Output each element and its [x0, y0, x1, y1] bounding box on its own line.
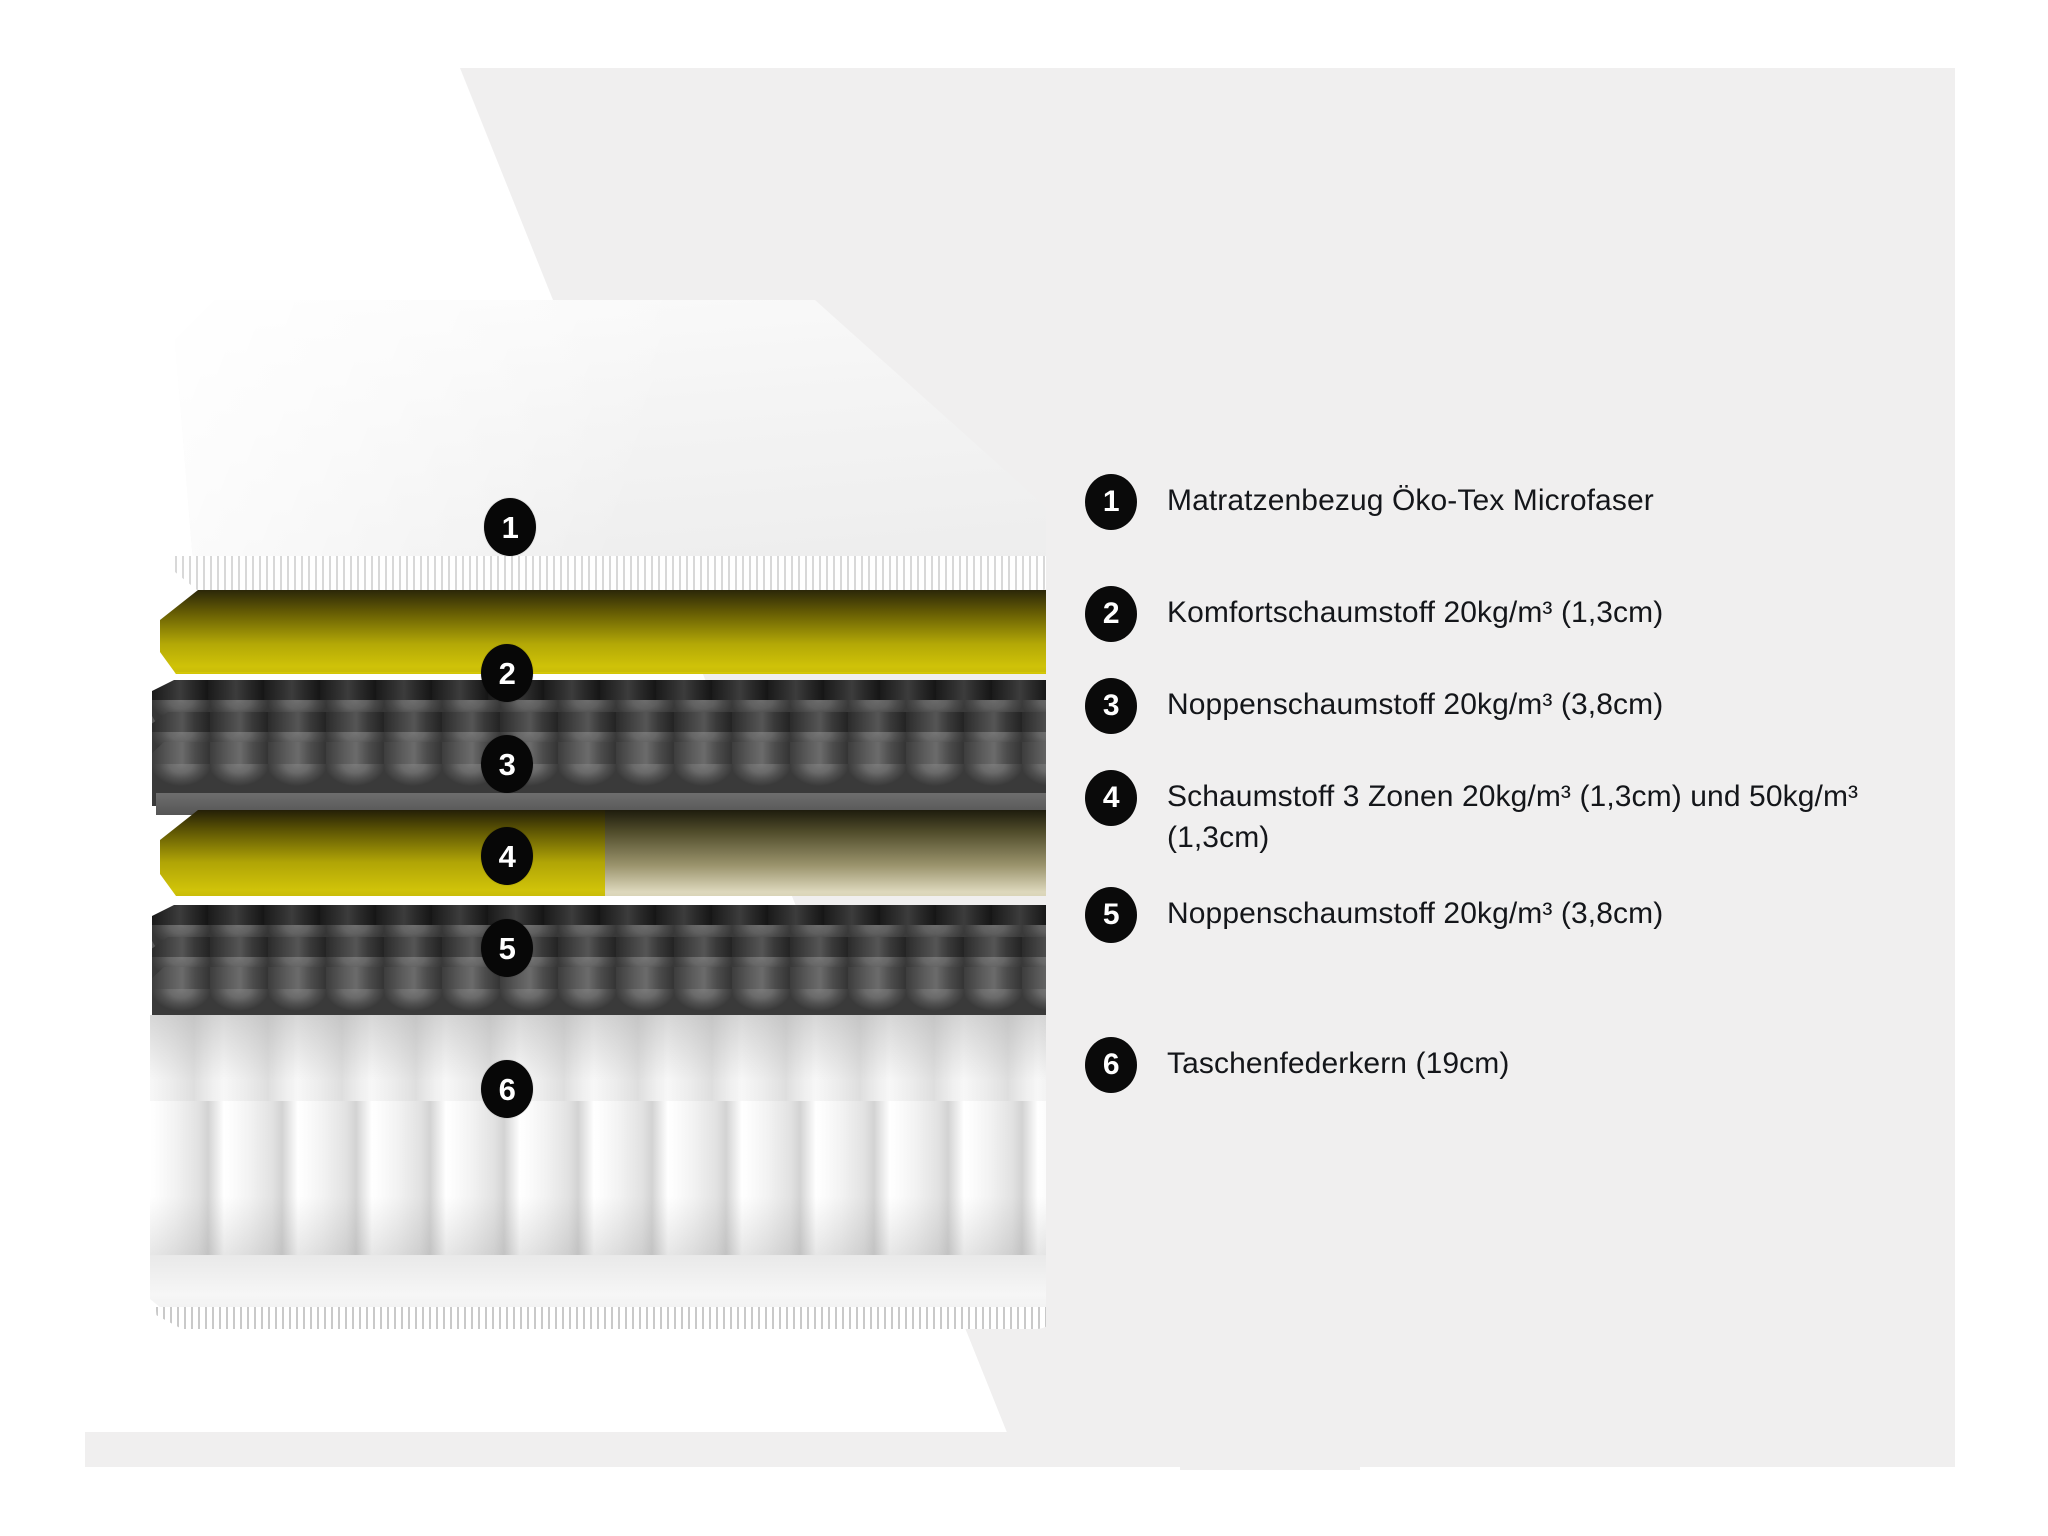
- mattress-layer-pocket-spring-core: [150, 1015, 1046, 1345]
- legend-label-6: Taschenfederkern (19cm): [1167, 1043, 1509, 1084]
- legend-label-2: Komfortschaumstoff 20kg/m³ (1,3cm): [1167, 592, 1663, 633]
- legend-item-6[interactable]: 6 Taschenfederkern (19cm): [1085, 1043, 1925, 1093]
- legend-label-4: Schaumstoff 3 Zonen 20kg/m³ (1,3cm) und …: [1167, 776, 1887, 859]
- background-panel-bottom-strip: [85, 1432, 1955, 1467]
- legend-label-3: Noppenschaumstoff 20kg/m³ (3,8cm): [1167, 684, 1663, 725]
- legend-item-3[interactable]: 3 Noppenschaumstoff 20kg/m³ (3,8cm): [1085, 684, 1925, 734]
- diagram-badge-2[interactable]: 2: [481, 644, 533, 702]
- legend-item-5[interactable]: 5 Noppenschaumstoff 20kg/m³ (3,8cm): [1085, 893, 1925, 943]
- three-zone-foam-left-zone: [160, 810, 605, 910]
- diagram-badge-1[interactable]: 1: [484, 498, 536, 556]
- legend-badge-3: 3: [1085, 678, 1137, 734]
- legend-badge-5: 5: [1085, 887, 1137, 943]
- legend-label-5: Noppenschaumstoff 20kg/m³ (3,8cm): [1167, 893, 1663, 934]
- legend-item-2[interactable]: 2 Komfortschaumstoff 20kg/m³ (1,3cm): [1085, 592, 1925, 642]
- legend-item-1[interactable]: 1 Matratzenbezug Öko-Tex Microfaser: [1085, 480, 1925, 530]
- legend-badge-6: 6: [1085, 1037, 1137, 1093]
- legend-badge-4: 4: [1085, 770, 1137, 826]
- profiled-foam-upper-texture: [152, 680, 1046, 815]
- mattress-layer-profiled-foam-upper: [152, 680, 1046, 815]
- diagram-stage: 1 2 3 4 5 6 1 Matratzenbezug Öko-Tex Mic…: [0, 0, 2048, 1536]
- spring-core-stitched-edge: [156, 1307, 1046, 1329]
- pocket-springs-shading: [150, 1015, 1046, 1267]
- cover-piping-edge: [175, 556, 1046, 590]
- legend-badge-2: 2: [1085, 586, 1137, 642]
- diagram-badge-6[interactable]: 6: [481, 1060, 533, 1118]
- cover-top-surface: [175, 300, 1046, 562]
- diagram-badge-4[interactable]: 4: [481, 827, 533, 885]
- mattress-layer-comfort-foam: [160, 590, 1046, 688]
- mattress-layer-stack: 1 2 3 4 5 6: [0, 0, 1046, 1400]
- diagram-badge-5[interactable]: 5: [481, 919, 533, 977]
- diagram-badge-3[interactable]: 3: [481, 735, 533, 793]
- mattress-layer-cover: [175, 300, 1046, 590]
- legend-badge-1: 1: [1085, 474, 1137, 530]
- legend-label-1: Matratzenbezug Öko-Tex Microfaser: [1167, 480, 1654, 521]
- legend-list: 1 Matratzenbezug Öko-Tex Microfaser 2 Ko…: [1085, 480, 1925, 1093]
- legend-item-4[interactable]: 4 Schaumstoff 3 Zonen 20kg/m³ (1,3cm) un…: [1085, 776, 1925, 859]
- three-zone-foam-right-zone: [605, 810, 1046, 910]
- mattress-layer-three-zone-foam: [160, 810, 1046, 910]
